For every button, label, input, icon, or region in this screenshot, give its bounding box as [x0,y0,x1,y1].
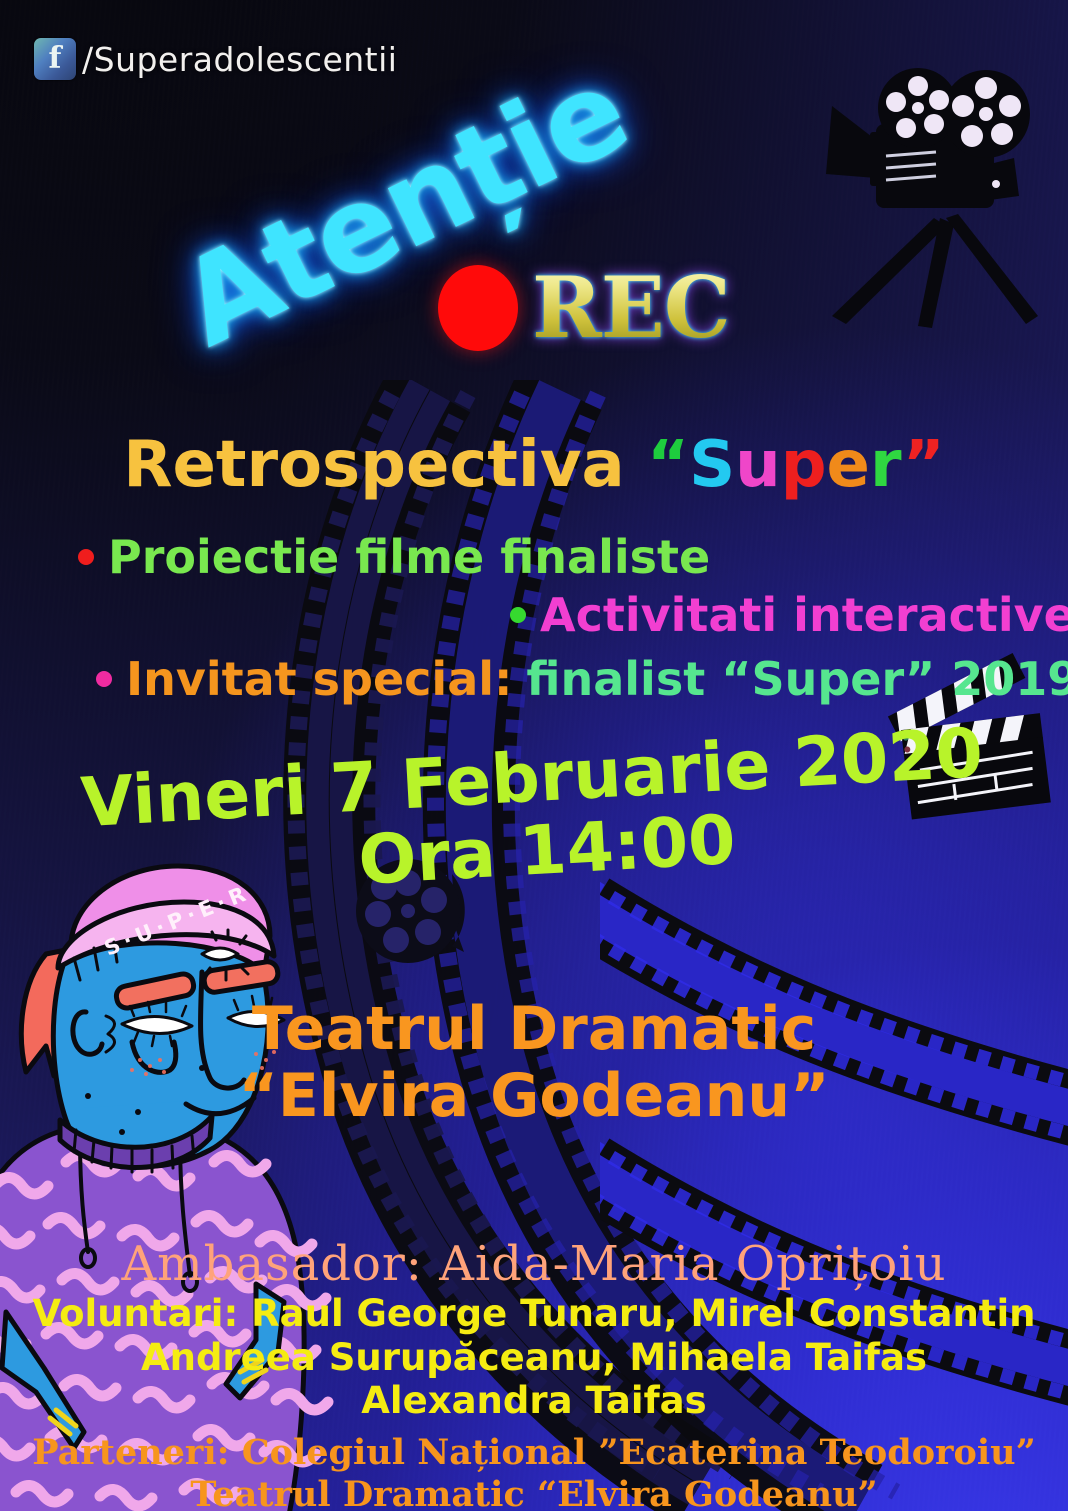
partners-block: Parteneri: Colegiul Național ”Ecaterina … [0,1432,1068,1511]
super-letter-u: u [735,428,781,502]
subtitle-close-quote: ” [903,428,945,502]
bullet-dot-icon [78,549,94,565]
subtitle-main: Retrospectiva [123,428,625,502]
super-letter-p: p [781,428,827,502]
bullet-item-2: Activitati interactive [510,588,1068,642]
venue-line-2: “Elvira Godeanu” [0,1063,1068,1130]
partners-line-2: Teatrul Dramatic “Elvira Godeanu” [0,1474,1068,1511]
rec-label: REC [532,258,730,357]
venue-line-1: Teatrul Dramatic [0,996,1068,1063]
facebook-handle[interactable]: f /Superadolescentii [34,38,397,80]
volunteers-line-1: Voluntari: Raul George Tunaru, Mirel Con… [0,1292,1068,1336]
volunteers-line-2: Andreea Surupăceanu, Mihaela Taifas [0,1336,1068,1380]
bullet-text-1: Proiectie filme finaliste [108,530,710,584]
super-letter-r: r [870,428,903,502]
rec-indicator: REC [438,258,730,357]
volunteers-block: Voluntari: Raul George Tunaru, Mirel Con… [0,1292,1068,1423]
bullet-dot-icon [510,607,526,623]
volunteers-line-3: Alexandra Taifas [0,1379,1068,1423]
movie-camera-icon [814,28,1064,328]
super-letter-s: S [689,428,735,502]
facebook-handle-text: /Superadolescentii [82,40,397,79]
subtitle-line: Retrospectiva “Super” [0,428,1068,502]
ambassador-line: Ambasador: Aida-Maria Oprițoiu [0,1236,1068,1292]
partners-line-1: Parteneri: Colegiul Național ”Ecaterina … [0,1432,1068,1474]
subtitle-open-quote: “ [647,428,689,502]
bullet-text-3-tail: finalist “Super” 2019 [526,652,1068,706]
bullet-text-2: Activitati interactive [540,588,1068,642]
record-dot-icon [438,265,518,351]
bullet-item-1: Proiectie filme finaliste [78,530,710,584]
event-venue: Teatrul Dramatic “Elvira Godeanu” [0,996,1068,1130]
bullet-item-3: Invitat special: finalist “Super” 2019 [96,652,1068,706]
super-letter-e: e [827,428,870,502]
facebook-glyph: f [34,44,76,74]
facebook-icon: f [34,38,76,80]
poster-canvas: S·U·P·E·R [0,0,1068,1511]
bullet-dot-icon [96,671,112,687]
bullet-text-3-lead: Invitat special: [126,652,512,706]
